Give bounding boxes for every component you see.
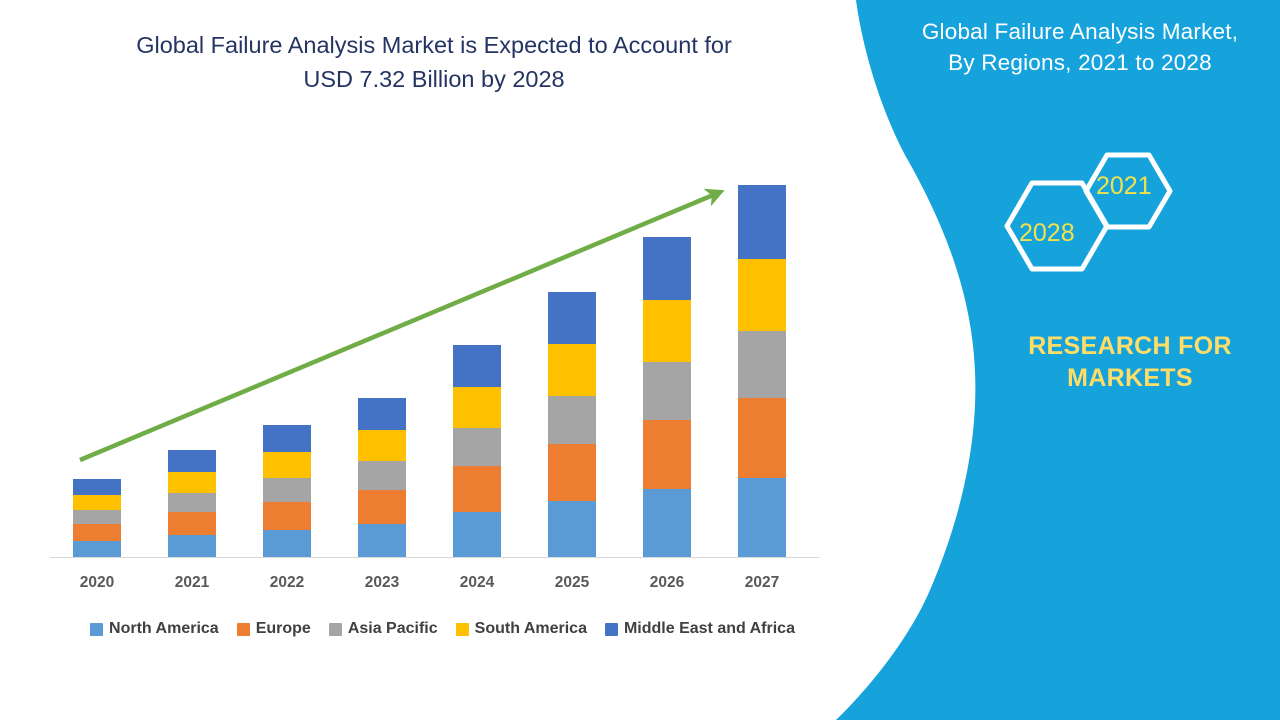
trend-arrow [0, 0, 860, 600]
hexagon-badge-group [985, 145, 1185, 285]
legend-label: Europe [256, 620, 311, 638]
brand-line-2: MARKETS [995, 362, 1265, 394]
brand-line-1: RESEARCH FOR [995, 330, 1265, 362]
legend-swatch-icon [456, 623, 469, 636]
legend-item[interactable]: Europe [237, 620, 311, 638]
legend-item[interactable]: Asia Pacific [329, 620, 438, 638]
brand-wordmark: RESEARCH FOR MARKETS [995, 330, 1265, 394]
stacked-bar-chart: 20202021202220232024202520262027 [0, 0, 860, 600]
legend-item[interactable]: North America [90, 620, 219, 638]
panel-heading-line-2: By Regions, 2021 to 2028 [900, 47, 1260, 78]
legend-item[interactable]: South America [456, 620, 587, 638]
legend-swatch-icon [605, 623, 618, 636]
legend-swatch-icon [329, 623, 342, 636]
trend-arrow-line [80, 193, 718, 460]
legend-label: North America [109, 620, 219, 638]
legend-item[interactable]: Middle East and Africa [605, 620, 795, 638]
panel-heading: Global Failure Analysis Market, By Regio… [900, 16, 1260, 78]
legend-swatch-icon [237, 623, 250, 636]
legend-label: Asia Pacific [348, 620, 438, 638]
chart-legend: North AmericaEuropeAsia PacificSouth Ame… [55, 617, 830, 641]
hexagon-label-2028: 2028 [1019, 219, 1075, 248]
legend-swatch-icon [90, 623, 103, 636]
panel-heading-line-1: Global Failure Analysis Market, [900, 16, 1260, 47]
legend-label: South America [475, 620, 587, 638]
legend-label: Middle East and Africa [624, 620, 795, 638]
hexagon-label-2021: 2021 [1096, 172, 1152, 201]
infographic-canvas: Global Failure Analysis Market, By Regio… [0, 0, 1280, 720]
